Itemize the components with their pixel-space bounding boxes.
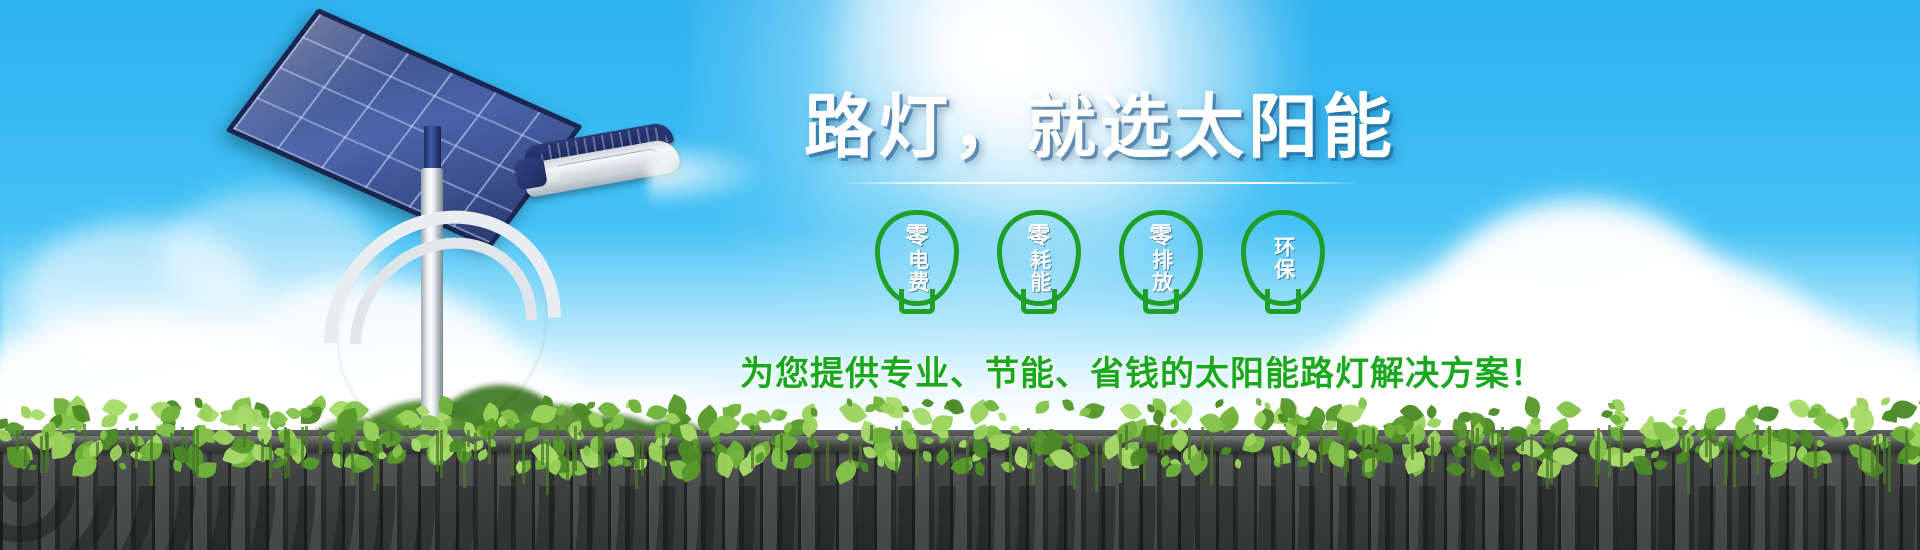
feature-badge-huanbao: 环保 xyxy=(1241,210,1325,306)
lamp-arm-inner xyxy=(311,199,575,465)
panel-mast xyxy=(424,126,441,174)
headline-divider xyxy=(840,182,1360,184)
feature-badge-paifang: 零 排放 xyxy=(1119,210,1203,306)
banner-headline: 路灯，就选太阳能 xyxy=(740,92,1460,162)
solar-street-lamp-banner: 路灯，就选太阳能 零 电费 零 耗能 零 排放 环保 为您提供专业、节能、省钱的… xyxy=(0,0,1920,550)
wall-roof-tiles xyxy=(0,486,1920,550)
badge-zero-label: 零 xyxy=(906,224,929,247)
badge-zero-label: 零 xyxy=(1028,224,1051,247)
solar-panel-sheen xyxy=(233,14,575,243)
feature-badge-dianfei: 零 电费 xyxy=(875,210,959,306)
wall-ridge xyxy=(0,436,1920,452)
badge-text: 环保 xyxy=(1272,236,1293,280)
feature-badge-haoneng: 零 耗能 xyxy=(997,210,1081,306)
lamp-head-joint xyxy=(513,156,548,191)
badge-zero-label: 零 xyxy=(1150,224,1173,247)
badge-text: 排放 xyxy=(1150,249,1171,293)
badge-text: 耗能 xyxy=(1028,249,1049,293)
solar-panel xyxy=(225,8,583,249)
tiled-wall xyxy=(0,430,1920,550)
feature-badge-list: 零 电费 零 耗能 零 排放 环保 xyxy=(740,210,1460,306)
banner-subtitle: 为您提供专业、节能、省钱的太阳能路灯解决方案！ xyxy=(740,346,1460,395)
badge-text: 电费 xyxy=(906,249,927,293)
banner-content: 路灯，就选太阳能 零 电费 零 耗能 零 排放 环保 为您提供专业、节能、省钱的… xyxy=(740,92,1460,395)
